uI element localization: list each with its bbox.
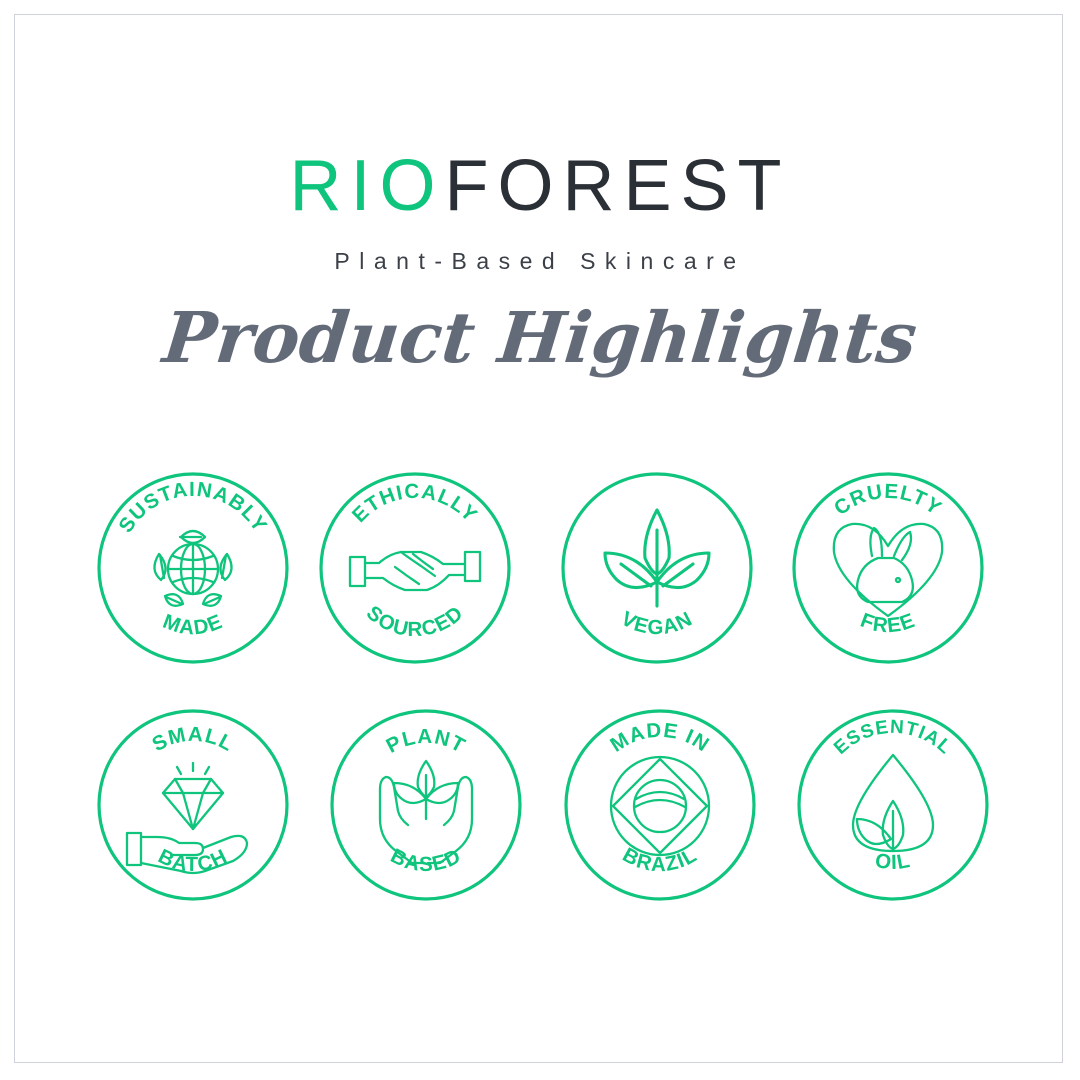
brand-name-dark: FOREST: [445, 146, 791, 226]
brand-wordmark: RIOFOREST: [0, 150, 1080, 222]
hands-cradling-plant-icon: [380, 761, 472, 863]
poster-canvas: RIOFOREST Plant-Based Skincare Product H…: [0, 0, 1080, 1080]
brand-logo: RIOFOREST: [0, 150, 1080, 222]
three-leaf-plant-icon: [605, 510, 709, 606]
badge-bottom-label: OIL: [873, 849, 912, 875]
badge-top-label: SUSTAINABLY: [114, 478, 272, 537]
brand-tagline: Plant-Based Skincare: [0, 248, 1080, 275]
droplet-with-leaves-icon: [853, 755, 933, 851]
globe-with-leaves-icon: [154, 531, 231, 606]
badge-plant-based[interactable]: PLANT BASED: [328, 707, 524, 903]
badge-grid: SUSTAINABLY MADE: [0, 455, 1080, 935]
page-title: Product Highlights: [0, 296, 1080, 379]
badge-bottom-label: FREE: [857, 609, 918, 638]
badge-bottom-label: BASED: [387, 844, 465, 876]
badge-ethically-sourced[interactable]: ETHICALLY SOURCED: [317, 470, 513, 666]
handshake-icon: [350, 552, 480, 590]
brazil-flag-icon: [611, 757, 709, 855]
badge-vegan[interactable]: VEGAN: [559, 470, 755, 666]
badge-essential-oil[interactable]: ESSENTIAL OIL: [795, 707, 991, 903]
badge-made-in-brazil[interactable]: MADE IN BRAZIL: [562, 707, 758, 903]
badge-bottom-label: VEGAN: [617, 607, 696, 639]
badge-bottom-label: MADE: [160, 610, 227, 640]
brand-name-green: RIO: [289, 146, 444, 226]
badge-top-label: MADE IN: [606, 719, 714, 757]
badge-top-label: CRUELTY: [830, 480, 946, 520]
badge-bottom-label: BRAZIL: [619, 843, 702, 876]
badge-small-batch[interactable]: SMALL BATCH: [95, 707, 291, 903]
bunny-in-heart-icon: [834, 524, 942, 616]
badge-top-label: SMALL: [148, 723, 237, 756]
badge-bottom-label: BATCH: [155, 845, 232, 877]
badge-cruelty-free[interactable]: CRUELTY FREE: [790, 470, 986, 666]
badge-bottom-label: SOURCED: [362, 601, 468, 641]
badge-sustainably-made[interactable]: SUSTAINABLY MADE: [95, 470, 291, 666]
badge-top-label: PLANT: [382, 725, 469, 758]
